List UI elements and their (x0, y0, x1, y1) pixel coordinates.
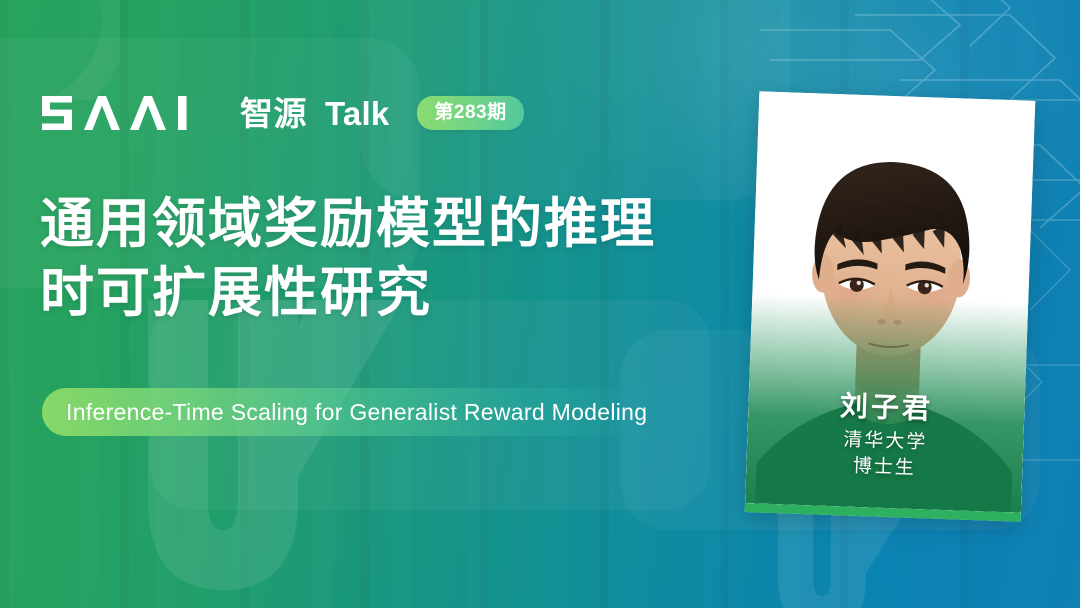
talk-poster: 智源 Talk 第283期 通用领域奖励模型的推理 时可扩展性研究 Infere… (0, 0, 1080, 608)
title-line-1: 通用领域奖励模型的推理 (40, 190, 730, 259)
watermark-v-shape (118, 300, 408, 608)
watermark-arc (0, 0, 120, 100)
brand-name-cn: 智源 (240, 97, 307, 130)
english-subtitle-pill: Inference-Time Scaling for Generalist Re… (42, 388, 702, 436)
speaker-caption: 刘子君 清华大学 博士生 (746, 385, 1025, 487)
baai-logo-icon (42, 96, 220, 130)
page-title: 通用领域奖励模型的推理 时可扩展性研究 (40, 190, 730, 328)
episode-badge: 第283期 (417, 96, 523, 130)
speaker-photo: 刘子君 清华大学 博士生 (745, 91, 1035, 512)
speaker-photo-card: 刘子君 清华大学 博士生 (745, 91, 1036, 521)
brand-name-talk: Talk (325, 97, 389, 130)
title-line-2: 时可扩展性研究 (40, 259, 730, 328)
english-subtitle-text: Inference-Time Scaling for Generalist Re… (42, 399, 647, 426)
brand-header: 智源 Talk 第283期 (42, 96, 524, 130)
